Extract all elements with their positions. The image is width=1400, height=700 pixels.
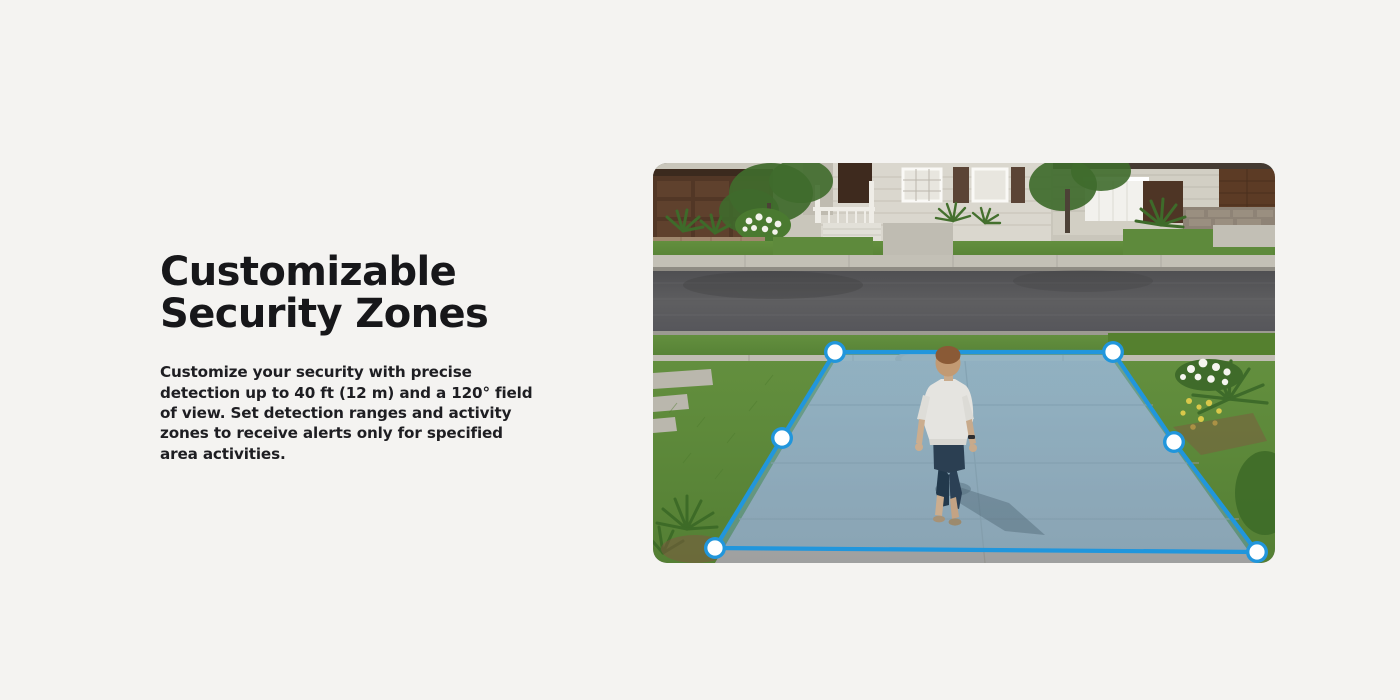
handle-top-right[interactable] [1102, 341, 1124, 363]
feature-description: Customize your security with precise det… [160, 362, 540, 464]
feature-copy-block: Customizable Security Zones Customize yo… [160, 252, 540, 464]
camera-preview-card [653, 163, 1275, 563]
handle-mid-right[interactable] [1163, 431, 1185, 453]
handle-top-left[interactable] [824, 341, 846, 363]
handle-bottom-left[interactable] [704, 537, 726, 559]
handle-bottom-right[interactable] [1246, 541, 1268, 563]
page-title: Customizable Security Zones [160, 252, 540, 335]
camera-scene-image [653, 163, 1275, 563]
marketing-feature-page: Customizable Security Zones Customize yo… [0, 0, 1400, 700]
handle-mid-left[interactable] [771, 427, 793, 449]
